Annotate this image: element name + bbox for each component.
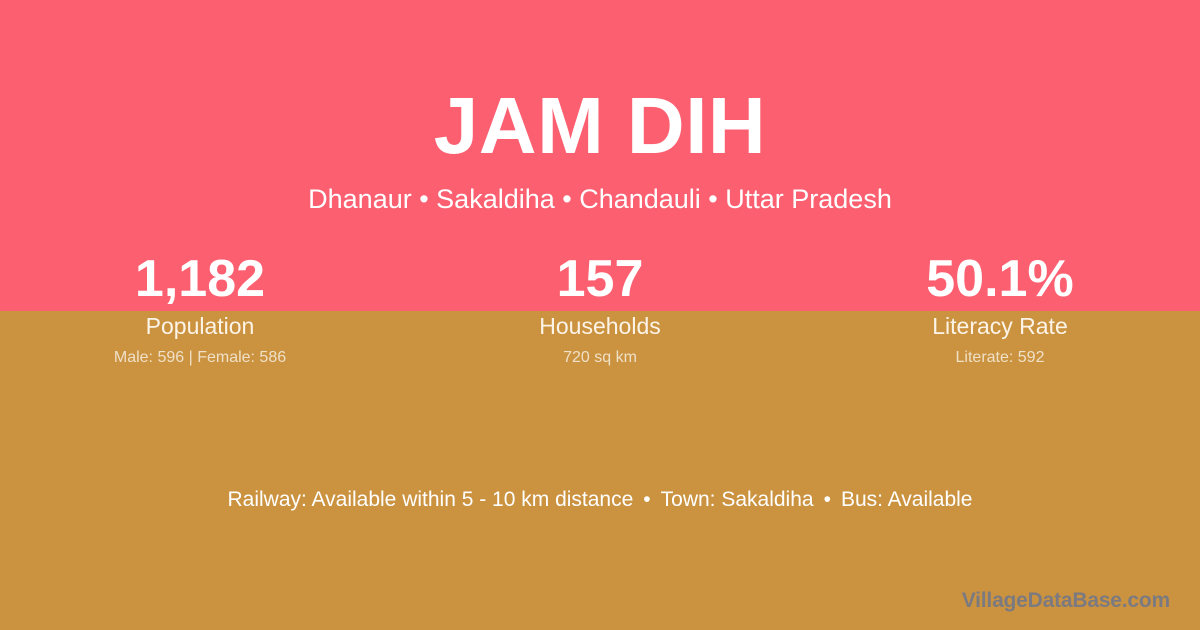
town-info: Town: Sakaldiha — [661, 488, 814, 511]
bullet-separator-icon: • — [633, 486, 660, 514]
stat-value: 1,182 — [0, 248, 400, 310]
stat-population: 1,182 Population Male: 596 | Female: 586 — [0, 248, 400, 368]
card-content: JAM DIH Dhanaur • Sakaldiha • Chandauli … — [0, 0, 1200, 630]
village-info-card: JAM DIH Dhanaur • Sakaldiha • Chandauli … — [0, 0, 1200, 630]
stat-label: Population — [0, 312, 400, 340]
stat-literacy-rate: 50.1% Literacy Rate Literate: 592 — [800, 248, 1200, 368]
stat-sublabel: Literate: 592 — [800, 348, 1200, 368]
bullet-separator-icon: • — [814, 486, 841, 514]
stat-sublabel: Male: 596 | Female: 586 — [0, 348, 400, 368]
amenities-line: Railway: Available within 5 - 10 km dist… — [0, 486, 1200, 514]
bus-info: Bus: Available — [841, 488, 973, 511]
stat-label: Literacy Rate — [800, 312, 1200, 340]
site-watermark: VillageDataBase.com — [962, 588, 1170, 614]
railway-info: Railway: Available within 5 - 10 km dist… — [227, 488, 633, 511]
stat-sublabel: 720 sq km — [400, 348, 800, 368]
breadcrumb: Dhanaur • Sakaldiha • Chandauli • Uttar … — [0, 182, 1200, 216]
stat-households: 157 Households 720 sq km — [400, 248, 800, 368]
stat-label: Households — [400, 312, 800, 340]
stats-row: 1,182 Population Male: 596 | Female: 586… — [0, 248, 1200, 368]
stat-value: 50.1% — [800, 248, 1200, 310]
page-title: JAM DIH — [0, 78, 1200, 174]
stat-value: 157 — [400, 248, 800, 310]
